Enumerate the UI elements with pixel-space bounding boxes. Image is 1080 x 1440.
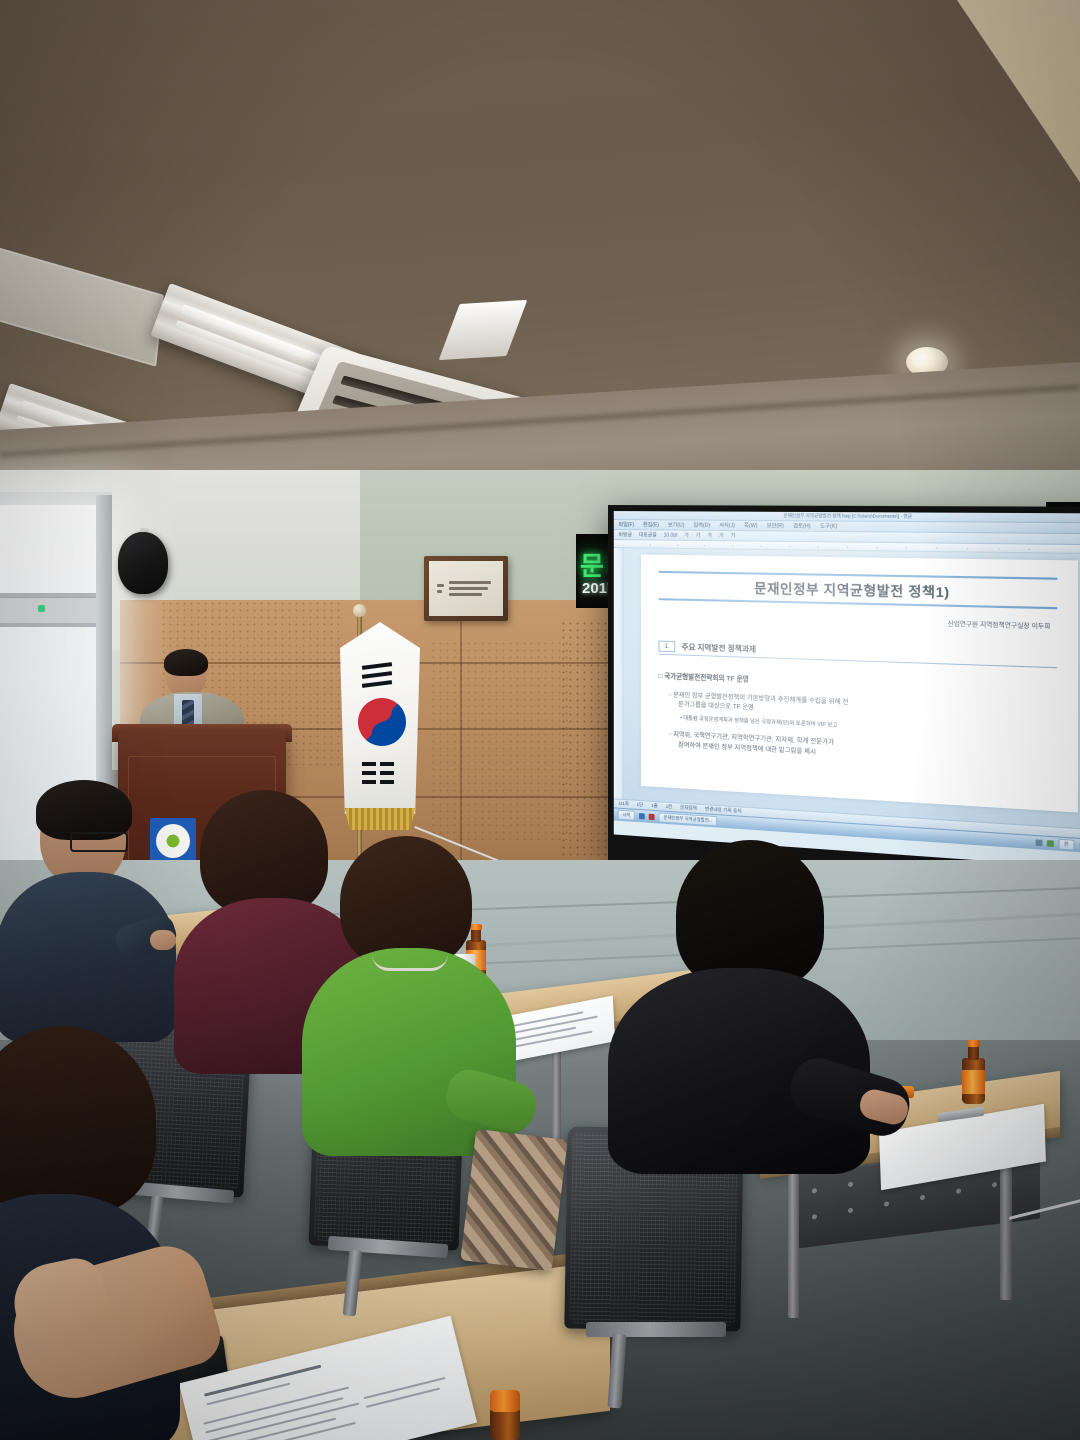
strike-button[interactable]: 가	[719, 532, 724, 539]
bottle-foreground-cap[interactable]	[490, 1390, 520, 1412]
flag-taegeuk	[358, 698, 406, 746]
flag-trigram-bottom1b	[380, 762, 394, 766]
flag-trigram-bottom	[362, 762, 376, 766]
acoustic-perforation-left	[430, 640, 570, 840]
audience-foreground-hair	[0, 1026, 156, 1216]
tray-icon-2[interactable]	[1047, 840, 1054, 847]
menu-security[interactable]: 보안(R)	[767, 522, 784, 529]
underline-button[interactable]: 가	[707, 532, 712, 539]
menu-page[interactable]: 쪽(W)	[744, 522, 757, 529]
flag-trigram-top2	[362, 671, 392, 679]
bullet-2-marker: •	[680, 715, 682, 721]
audience-man-black	[614, 840, 864, 1170]
bottle-foreground[interactable]	[490, 1408, 520, 1440]
status-char: 1칸	[666, 804, 673, 811]
flag-trigram-bottom2	[362, 771, 376, 775]
flag-trigram-bottom2b	[380, 771, 394, 775]
menu-file[interactable]: 파일(F)	[619, 521, 635, 528]
framed-calligraphy	[424, 556, 508, 621]
start-button[interactable]: 시작	[618, 810, 636, 821]
fontsize-dropdown[interactable]: 10.0pt	[664, 532, 678, 538]
quicklaunch-icon-2[interactable]	[649, 814, 655, 820]
status-line: 1줄	[651, 803, 658, 809]
status-column: 1단	[637, 802, 644, 808]
section-title: 주요 지역발전 정책과제	[682, 641, 756, 655]
calligraphy-mat	[429, 561, 503, 616]
section-number: 1.	[659, 641, 676, 653]
seminar-room-photo: 문ㅈ 2017 크ㅅ 기획ㅅ 문재인정부 지역균형발전 정책.hwp [C:\U…	[0, 0, 1080, 1440]
flag-trigram-top	[362, 662, 392, 670]
hwp-vertical-ruler[interactable]	[614, 548, 624, 799]
chair-3-frame	[586, 1322, 726, 1337]
presenter-hair	[164, 649, 208, 676]
bullet-3-marker: ◦	[669, 731, 671, 738]
audience-man-navy-torso	[0, 872, 176, 1042]
bottle-right-label	[962, 1070, 985, 1094]
menu-edit[interactable]: 편집(E)	[643, 521, 659, 528]
tray-icon-1[interactable]	[1035, 839, 1042, 846]
menu-tools[interactable]: 도구(K)	[820, 522, 837, 529]
menu-view[interactable]: 보기(U)	[668, 521, 685, 528]
audience-man-navy-glasses	[70, 832, 128, 852]
desk-right-leg-1	[1000, 1150, 1012, 1300]
color-button[interactable]: 가	[731, 532, 736, 539]
italic-button[interactable]: 가	[696, 532, 701, 539]
document-page: 문재인정부 지역균형발전 정책1) 산업연구원 지역정책연구실장 이두희 1. …	[641, 554, 1078, 812]
document-section-heading: 1. 주요 지역발전 정책과제	[659, 641, 1058, 669]
menu-insert[interactable]: 입력(D)	[693, 522, 710, 529]
audience-man-navy-hair	[36, 780, 132, 840]
flag-finial	[353, 604, 366, 617]
audience-woman-green-necklace	[372, 954, 448, 971]
wall-speaker	[118, 532, 168, 594]
bullet-2-line1: 대통령 국정운영계획과 정책을 담은 국정과제(안)와 토론하여 VIP 보고	[683, 715, 837, 728]
quicklaunch-icon-1[interactable]	[639, 813, 645, 819]
menu-review[interactable]: 검토(H)	[793, 522, 810, 529]
flag-trigram-bottom3b	[380, 780, 394, 784]
taskbar-task-hwp[interactable]: 문재인정부 지역균형발전...	[659, 812, 718, 826]
bullet-1-marker: ◦	[669, 692, 671, 699]
bold-button[interactable]: 가	[684, 532, 689, 539]
document-title-block: 문재인정부 지역균형발전 정책1)	[659, 571, 1058, 609]
bottle-right-cap[interactable]	[967, 1040, 980, 1047]
document-author: 산업연구원 지역정책연구실장 이두희	[659, 611, 1058, 631]
flag-trigram-top3	[362, 680, 392, 688]
ime-indicator[interactable]: 한	[1058, 839, 1074, 851]
menu-format[interactable]: 서식(J)	[719, 522, 735, 529]
font-dropdown[interactable]: 대표글꼴	[639, 531, 657, 538]
flag-trigram-bottom3	[362, 780, 376, 784]
style-dropdown[interactable]: 바탕글	[619, 531, 632, 538]
hwp-title-text: 문재인정부 지역균형발전 정책.hwp [C:\Users\Documents\…	[783, 513, 912, 520]
desk-right-leg-2	[788, 1168, 799, 1318]
audience-man-navy	[10, 780, 170, 1030]
document-title: 문재인정부 지역균형발전 정책1)	[659, 576, 1058, 604]
status-page: 1/1쪽	[619, 801, 629, 808]
projected-image: 문재인정부 지역균형발전 정책.hwp [C:\Users\Documents\…	[614, 511, 1080, 869]
tartan-bag[interactable]	[460, 1129, 567, 1271]
audience-man-navy-hand	[150, 930, 176, 950]
status-insert-mode: 문자입력	[680, 805, 697, 812]
